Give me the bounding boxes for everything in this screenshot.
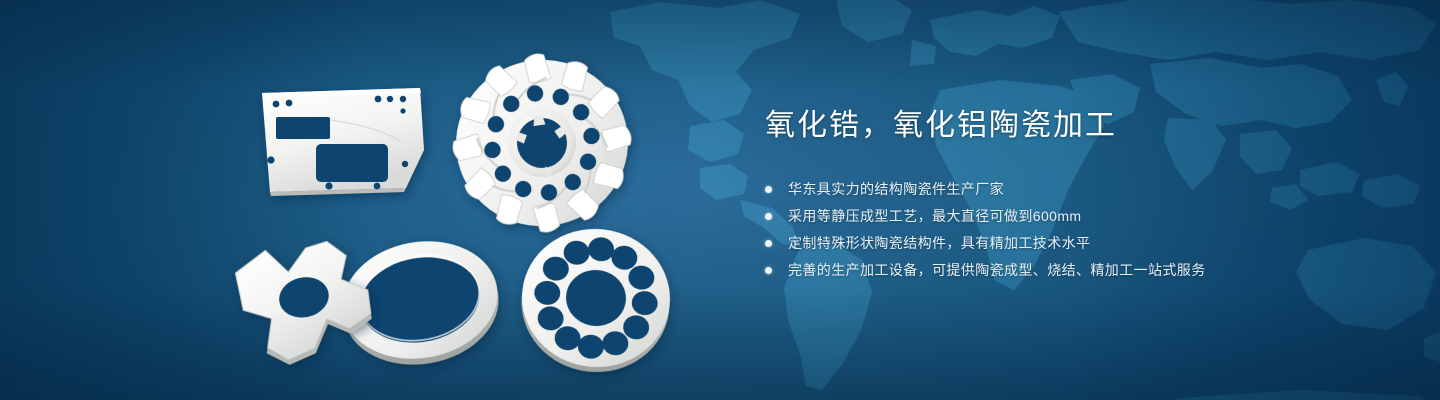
ceramic-processing-banner: 氧化锆，氧化铝陶瓷加工 华东具实力的结构陶瓷件生产厂家 采用等静压成型工艺，最大… (0, 0, 1440, 400)
bullet-dot-icon (765, 213, 772, 220)
list-item: 采用等静压成型工艺，最大直径可做到600mm (765, 207, 1405, 226)
feature-text: 定制特殊形状陶瓷结构件，具有精加工技术水平 (788, 234, 1090, 253)
ceramic-plate-part (262, 88, 424, 196)
feature-text: 华东具实力的结构陶瓷件生产厂家 (788, 180, 1004, 199)
list-item: 定制特殊形状陶瓷结构件，具有精加工技术水平 (765, 234, 1405, 253)
ceramic-perforated-disc-part (515, 222, 677, 380)
list-item: 完善的生产加工设备，可提供陶瓷成型、烧结、精加工一站式服务 (765, 261, 1405, 280)
banner-copy: 氧化锆，氧化铝陶瓷加工 华东具实力的结构陶瓷件生产厂家 采用等静压成型工艺，最大… (765, 108, 1405, 280)
ceramic-parts-artwork (0, 0, 720, 400)
ceramic-impeller-part (442, 43, 643, 244)
banner-headline: 氧化锆，氧化铝陶瓷加工 (765, 108, 1405, 144)
feature-text: 采用等静压成型工艺，最大直径可做到600mm (788, 207, 1081, 226)
bullet-dot-icon (765, 240, 772, 247)
ceramic-cross-part (232, 231, 380, 372)
feature-text: 完善的生产加工设备，可提供陶瓷成型、烧结、精加工一站式服务 (788, 261, 1206, 280)
bullet-dot-icon (765, 186, 772, 193)
feature-list: 华东具实力的结构陶瓷件生产厂家 采用等静压成型工艺，最大直径可做到600mm 定… (765, 180, 1405, 280)
list-item: 华东具实力的结构陶瓷件生产厂家 (765, 180, 1405, 199)
bullet-dot-icon (765, 267, 772, 274)
